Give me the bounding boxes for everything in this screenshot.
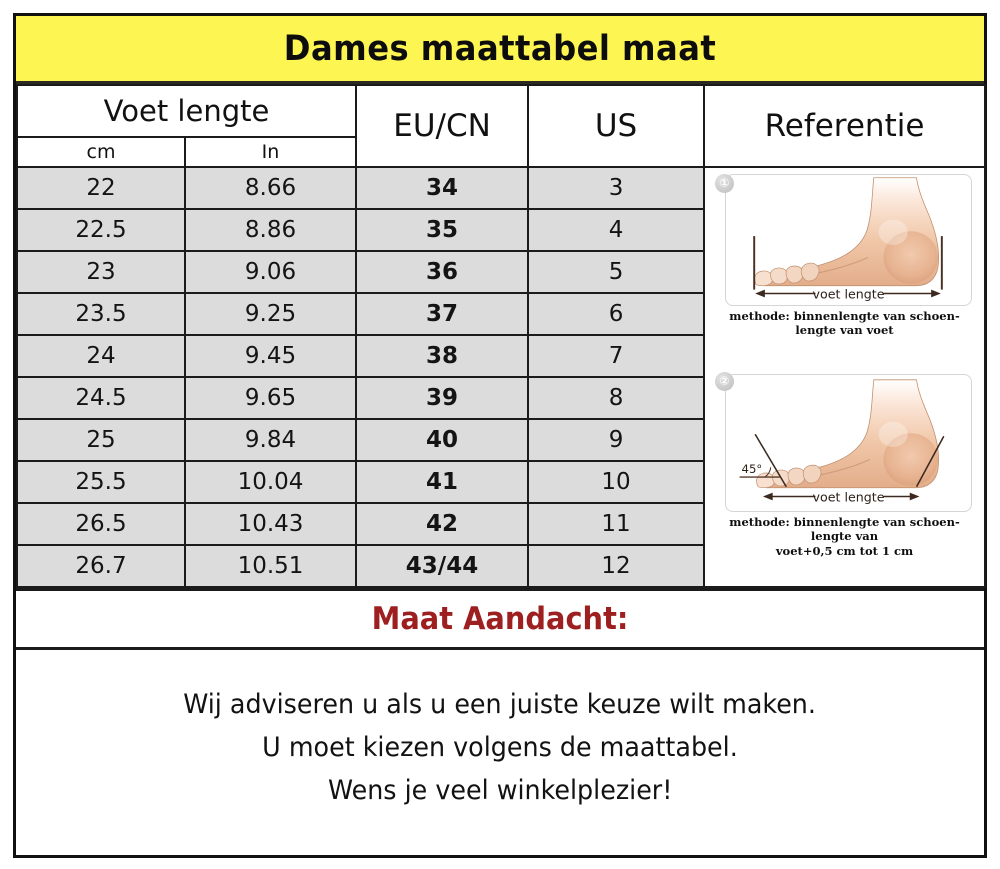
cell-eu-cn: 40: [356, 419, 528, 461]
cell-in: 9.45: [185, 335, 356, 377]
reference-cell: ①: [704, 167, 985, 587]
header-in: In: [185, 137, 356, 167]
foot-illustration-1: voet lengte: [725, 174, 972, 306]
cell-in: 10.04: [185, 461, 356, 503]
measure-label-2: voet lengte: [813, 489, 885, 504]
foot-side-view-angled-icon: 45° voet lengte: [726, 375, 971, 511]
reference-caption-2: methode: binnenlengte van schoen-lengte …: [711, 512, 978, 560]
cell-in: 8.66: [185, 167, 356, 209]
reference-caption-2-line1: methode: binnenlengte van schoen-lengte …: [729, 515, 959, 543]
cell-in: 9.65: [185, 377, 356, 419]
note-line-2: U moet kiezen volgens de maattabel.: [262, 732, 738, 763]
table-row: 22 8.66 34 3 ①: [17, 167, 985, 209]
cell-eu-cn: 43/44: [356, 545, 528, 587]
cell-cm: 26.5: [17, 503, 185, 545]
cell-cm: 22.5: [17, 209, 185, 251]
cell-cm: 25.5: [17, 461, 185, 503]
size-chart: Dames maattabel maat Voet lengte EU/CN U…: [13, 13, 987, 858]
cell-cm: 22: [17, 167, 185, 209]
reference-diagram-1: ①: [705, 168, 984, 366]
table-header-row-primary: Voet lengte EU/CN US Referentie: [17, 85, 985, 137]
cell-eu-cn: 35: [356, 209, 528, 251]
measure-label-1: voet lengte: [813, 286, 885, 301]
cell-eu-cn: 39: [356, 377, 528, 419]
cell-us: 10: [528, 461, 704, 503]
header-eu-cn: EU/CN: [356, 85, 528, 167]
cell-us: 3: [528, 167, 704, 209]
cell-cm: 26.7: [17, 545, 185, 587]
cell-cm: 23.5: [17, 293, 185, 335]
note-line-1: Wij adviseren u als u een juiste keuze w…: [184, 689, 817, 720]
header-referentie: Referentie: [704, 85, 985, 167]
header-cm: cm: [17, 137, 185, 167]
cell-in: 10.43: [185, 503, 356, 545]
cell-eu-cn: 41: [356, 461, 528, 503]
cell-us: 5: [528, 251, 704, 293]
header-voet-lengte: Voet lengte: [17, 85, 356, 137]
note-line-3: Wens je veel winkelplezier!: [328, 775, 672, 806]
cell-in: 9.06: [185, 251, 356, 293]
size-table: Voet lengte EU/CN US Referentie cm In 22…: [16, 84, 986, 588]
cell-eu-cn: 36: [356, 251, 528, 293]
reference-caption-2-line2: voet+0,5 cm tot 1 cm: [776, 544, 913, 558]
reference-caption-1: methode: binnenlengte van schoen-lengte …: [711, 306, 978, 340]
cell-in: 8.86: [185, 209, 356, 251]
cell-in: 10.51: [185, 545, 356, 587]
page-title: Dames maattabel maat: [284, 29, 716, 69]
cell-us: 4: [528, 209, 704, 251]
cell-us: 7: [528, 335, 704, 377]
cell-eu-cn: 34: [356, 167, 528, 209]
cell-us: 6: [528, 293, 704, 335]
cell-cm: 23: [17, 251, 185, 293]
notes-band: Wij adviseren u als u een juiste keuze w…: [16, 650, 984, 855]
cell-us: 9: [528, 419, 704, 461]
attention-band: Maat Aandacht:: [16, 588, 984, 650]
foot-side-view-icon: voet lengte: [726, 175, 971, 305]
badge-two-icon: ②: [715, 372, 734, 391]
cell-cm: 24.5: [17, 377, 185, 419]
angle-label: 45°: [742, 462, 763, 476]
reference-diagram-2: ②: [705, 366, 984, 586]
cell-eu-cn: 37: [356, 293, 528, 335]
cell-us: 12: [528, 545, 704, 587]
cell-us: 8: [528, 377, 704, 419]
cell-cm: 25: [17, 419, 185, 461]
foot-illustration-2: 45° voet lengte: [725, 374, 972, 512]
cell-cm: 24: [17, 335, 185, 377]
cell-us: 11: [528, 503, 704, 545]
cell-eu-cn: 42: [356, 503, 528, 545]
title-banner: Dames maattabel maat: [16, 16, 984, 84]
cell-eu-cn: 38: [356, 335, 528, 377]
cell-in: 9.25: [185, 293, 356, 335]
header-us: US: [528, 85, 704, 167]
attention-heading: Maat Aandacht:: [372, 601, 629, 637]
cell-in: 9.84: [185, 419, 356, 461]
badge-one-icon: ①: [715, 174, 734, 193]
